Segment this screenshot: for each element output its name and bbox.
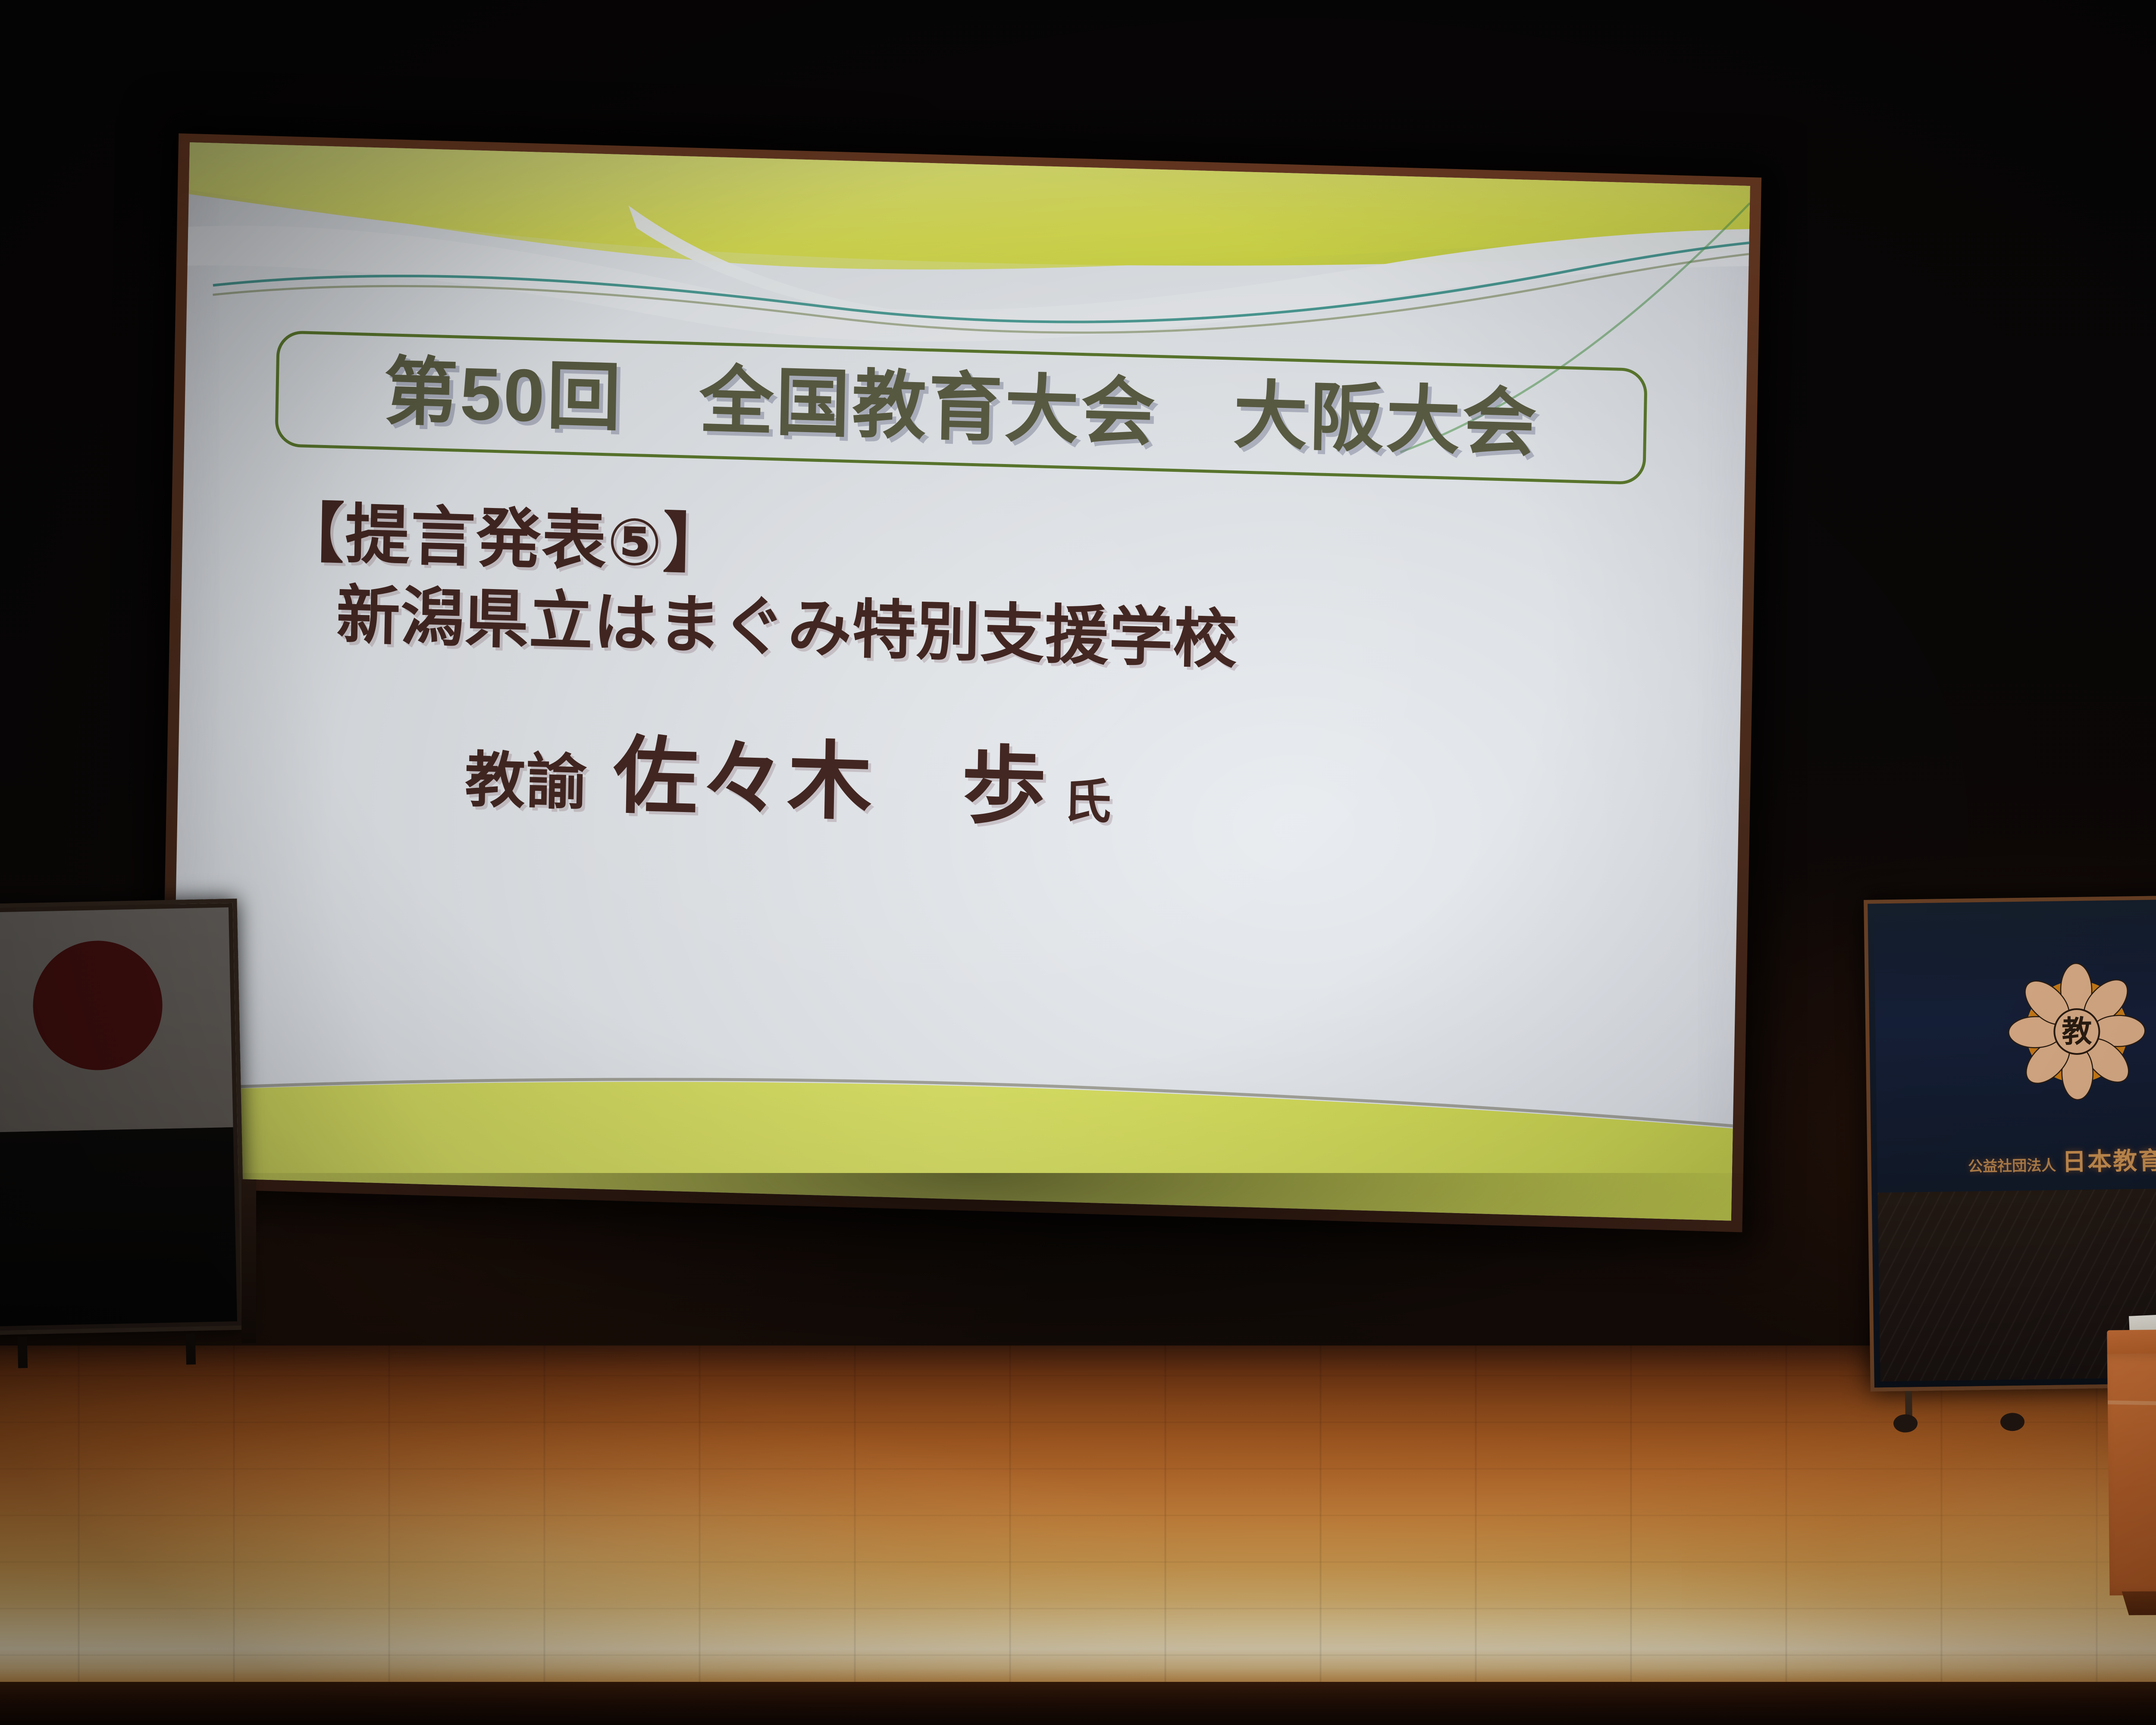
screen-drop-shadow xyxy=(164,1173,1785,1354)
flag-leg-left xyxy=(18,1337,28,1368)
screen-surface: 第50回 全国教育大会 大阪大会 【提言発表⑤】 新潟県立はまぐみ特別支援学校 … xyxy=(171,142,1750,1221)
slide-title-box: 第50回 全国教育大会 大阪大会 xyxy=(275,330,1648,485)
flag-field xyxy=(0,907,233,1132)
stage-scene: 第50回 全国教育大会 大阪大会 【提言発表⑤】 新潟県立はまぐみ特別支援学校 … xyxy=(0,0,2156,1725)
floor-light-pool-right xyxy=(1682,1371,2156,1725)
presenter-name-suffix: 氏 xyxy=(1062,774,1112,829)
emblem-character: 教 xyxy=(2062,1015,2092,1049)
banner-caption: 公益社団法人日本教育会 xyxy=(1871,1139,2156,1180)
slide-title: 第50回 全国教育大会 大阪大会 xyxy=(383,354,1539,461)
stage-front-edge xyxy=(0,1682,2156,1725)
organization-banner: 教 公益社団法人日本教育会 xyxy=(1864,894,2156,1392)
presenter-line: 教諭佐々木 歩氏 xyxy=(464,703,1699,859)
banner-org-name: 日本教育会 xyxy=(2062,1146,2156,1175)
presenter-role: 教諭 xyxy=(464,746,588,817)
banner-org-prefix: 公益社団法人 xyxy=(1968,1157,2056,1175)
slide-body: 【提言発表⑤】 新潟県立はまぐみ特別支援学校 教諭佐々木 歩氏 xyxy=(274,494,1703,859)
screen-support-post xyxy=(241,1179,256,1343)
hinomaru-disc-icon xyxy=(31,940,163,1072)
slide-content: 第50回 全国教育大会 大阪大会 【提言発表⑤】 新潟県立はまぐみ特別支援学校 … xyxy=(171,142,1750,1221)
stage-floor xyxy=(0,1345,2156,1725)
banner-frame: 教 公益社団法人日本教育会 xyxy=(1864,894,2156,1392)
floor-light-pool-left xyxy=(0,1423,1164,1699)
cherry-blossom-emblem-icon: 教 xyxy=(2005,958,2149,1103)
presenter-name: 佐々木 歩 xyxy=(612,728,1050,835)
projection-screen: 第50回 全国教育大会 大阪大会 【提言発表⑤】 新潟県立はまぐみ特別支援学校 … xyxy=(171,142,1750,1221)
podium-base-plinth xyxy=(2122,1588,2156,1617)
podium: Josho Hall xyxy=(2107,1326,2156,1640)
podium-front-face xyxy=(2107,1351,2156,1596)
